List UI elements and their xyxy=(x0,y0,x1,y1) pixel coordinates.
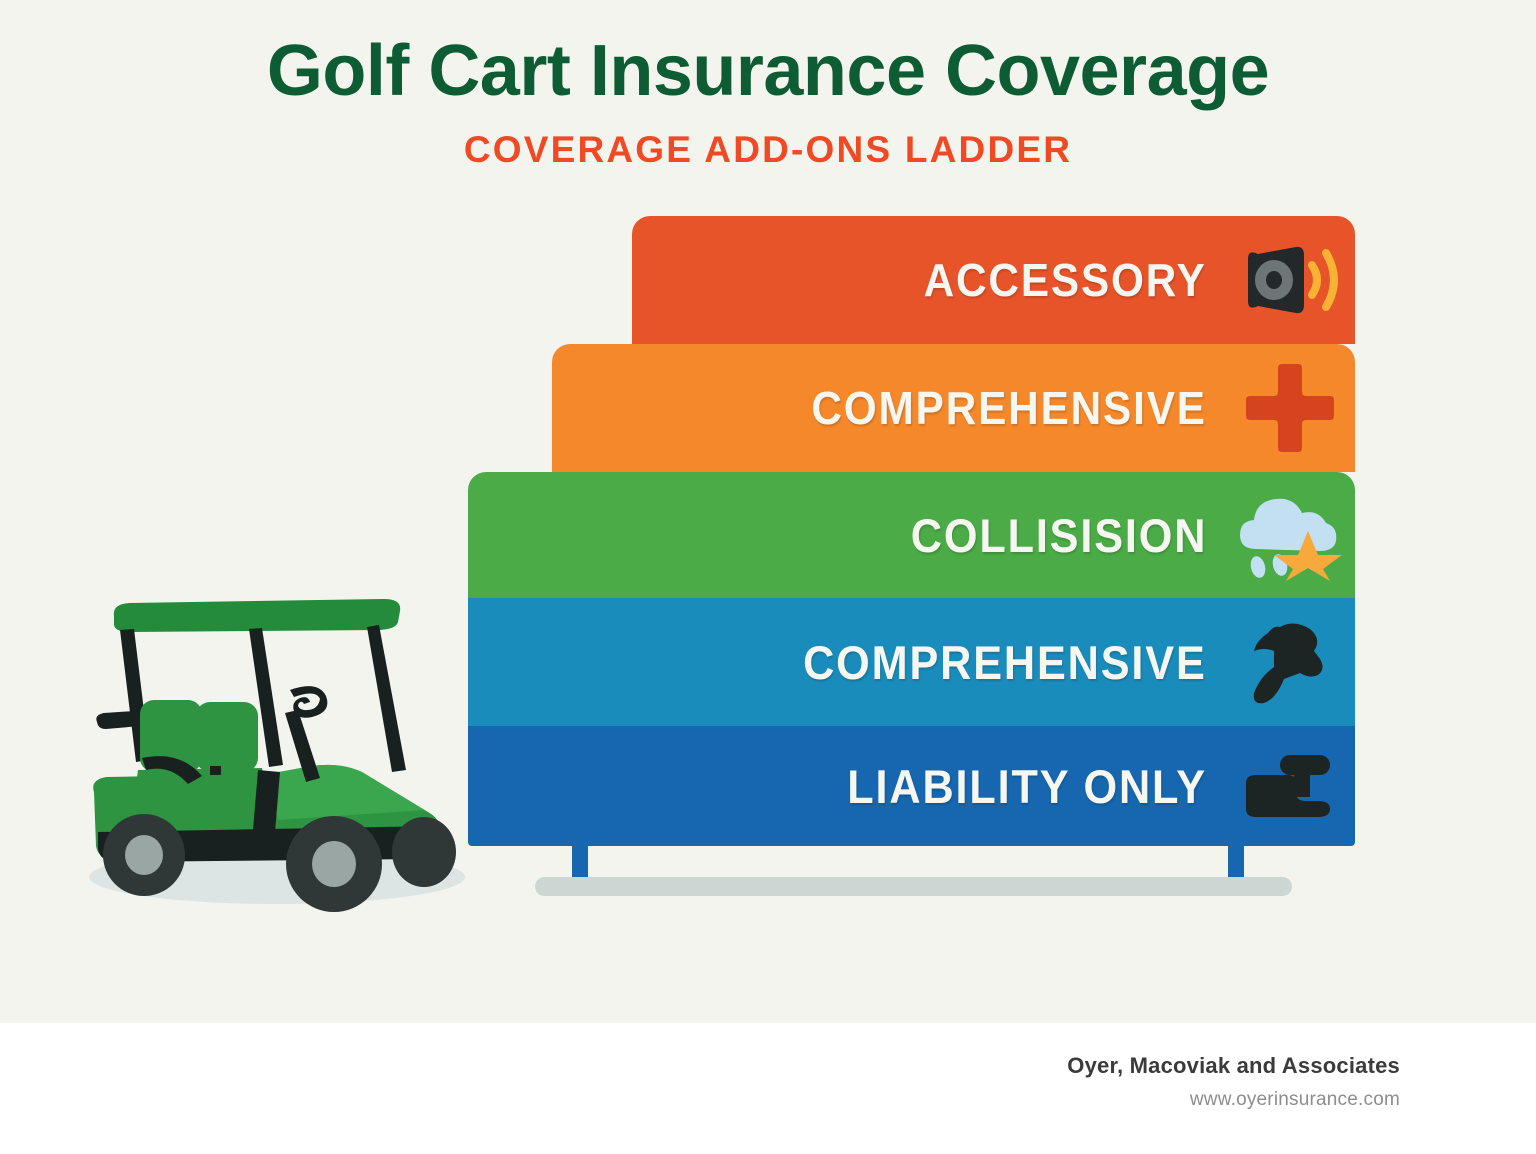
ladder-step-comprehensive-orange[interactable]: COMPREHENSIVE xyxy=(552,344,1355,472)
ladder-step-label: COMPREHENSIVE xyxy=(812,381,1207,435)
bird-icon xyxy=(1225,598,1355,726)
ladder-step-label: ACCESSORY xyxy=(924,253,1207,307)
speaker-icon xyxy=(1225,216,1355,344)
vehicle-icon xyxy=(1225,726,1355,846)
infographic-canvas: Golf Cart Insurance Coverage COVERAGE AD… xyxy=(0,0,1536,1154)
ladder-step-accessory[interactable]: ACCESSORY xyxy=(632,216,1355,344)
coverage-ladder: ACCESSORY COMPREHENSIVE CO xyxy=(0,0,1536,1000)
rain-cloud-star-icon xyxy=(1225,472,1355,598)
medical-cross-icon xyxy=(1225,344,1355,472)
footer-website-url[interactable]: www.oyerinsurance.com xyxy=(1067,1089,1400,1111)
footer-branding: Oyer, Macoviak and Associates www.oyerin… xyxy=(1067,1053,1400,1111)
footer: Oyer, Macoviak and Associates www.oyerin… xyxy=(0,1023,1536,1154)
ground-bar xyxy=(535,877,1292,896)
ladder-step-liability[interactable]: LIABILITY ONLY xyxy=(468,726,1355,846)
ladder-step-label: COMPREHENSIVE xyxy=(803,635,1207,690)
ladder-step-collision[interactable]: COLLISISION xyxy=(468,472,1355,598)
ladder-step-label: LIABILITY ONLY xyxy=(847,759,1207,814)
footer-company-name: Oyer, Macoviak and Associates xyxy=(1067,1053,1400,1079)
ladder-step-label: COLLISISION xyxy=(910,508,1207,563)
ladder-step-comprehensive-blue[interactable]: COMPREHENSIVE xyxy=(468,598,1355,726)
